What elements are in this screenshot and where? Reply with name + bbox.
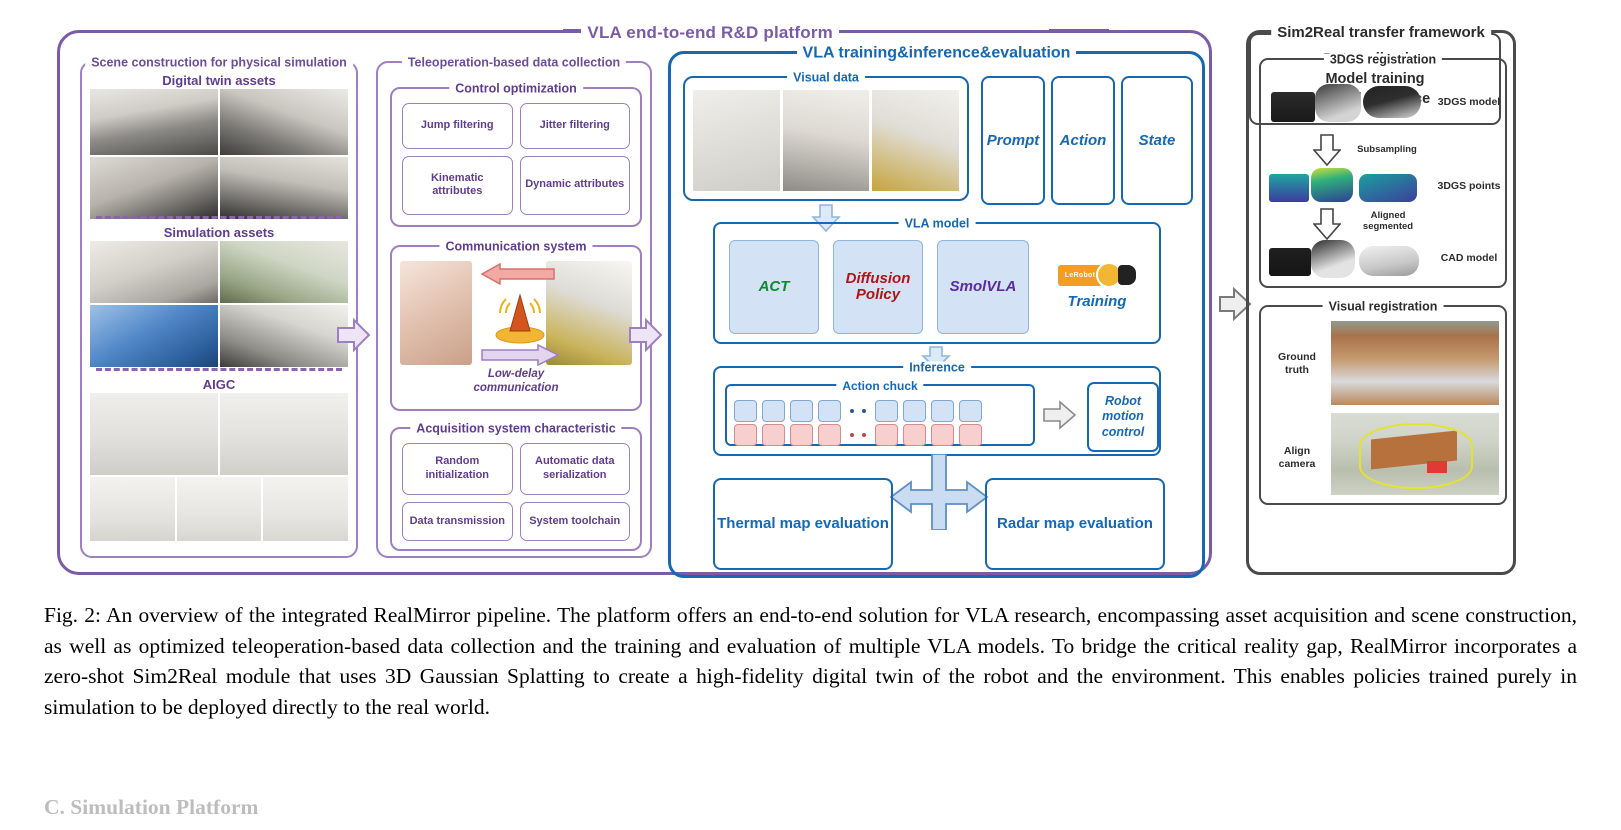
align-camera-image	[1331, 413, 1499, 495]
chuck-chip[interactable]	[931, 424, 954, 446]
chuck-chip[interactable]	[903, 400, 926, 422]
gs-model-image	[1267, 76, 1425, 132]
training-label: Training	[1068, 293, 1127, 310]
subsampling-arrow-icon	[1313, 134, 1341, 166]
ground-truth-label: Ground truth	[1269, 351, 1325, 376]
next-section-heading: C. Simulation Platform	[44, 795, 1577, 825]
flow-arrow-chuck-to-robot	[1043, 400, 1077, 430]
chuck-chip[interactable]	[790, 400, 813, 422]
digital-twin-assets-label: Digital twin assets	[90, 73, 348, 88]
gs-points-label: 3DGS points	[1433, 180, 1505, 193]
model-card-act[interactable]: ACT	[729, 240, 819, 334]
scene-construction-group: Scene construction for physical simulati…	[80, 61, 358, 558]
vla-training-group: VLA training&inference&evaluation Visual…	[668, 51, 1205, 578]
cell-random-initialization[interactable]: Random initialization	[402, 443, 513, 495]
lerobot-training-badge: LeRobot Training	[1045, 244, 1149, 328]
chuck-chip[interactable]	[734, 400, 757, 422]
io-box-state[interactable]: State	[1121, 76, 1193, 205]
aligned-segmented-label: Aligned segmented	[1345, 210, 1431, 233]
vla-platform-panel: VLA end-to-end R&D platform Scene constr…	[57, 30, 1212, 575]
cell-data-transmission[interactable]: Data transmission	[402, 502, 513, 541]
cell-system-toolchain[interactable]: System toolchain	[520, 502, 631, 541]
simulation-assets-label: Simulation assets	[90, 225, 348, 240]
ground-truth-image	[1331, 321, 1499, 405]
flow-arrow-teleop-to-vla	[626, 315, 666, 355]
gs-registration-title: 3DGS registration	[1324, 54, 1442, 67]
control-optimization-group: Control optimization Jump filtering Jitt…	[390, 87, 642, 227]
cad-model-image	[1267, 238, 1425, 284]
flow-arrow-scene-to-teleop	[334, 315, 374, 355]
io-box-prompt[interactable]: Prompt	[981, 76, 1045, 205]
scene-construction-title: Scene construction for physical simulati…	[85, 57, 353, 70]
chuck-chip[interactable]	[931, 400, 954, 422]
acquisition-system-title: Acquisition system characteristic	[410, 423, 621, 436]
scene-divider-1	[96, 216, 342, 219]
control-optimization-title: Control optimization	[449, 83, 583, 96]
platform-title: VLA end-to-end R&D platform	[581, 24, 839, 41]
gs-model-label: 3DGS model	[1433, 96, 1505, 109]
cell-automatic-data-serialization[interactable]: Automatic data serialization	[520, 443, 631, 495]
cell-dynamic-attributes[interactable]: Dynamic attributes	[520, 156, 631, 215]
chuck-chip[interactable]	[959, 400, 982, 422]
acquisition-system-group: Acquisition system characteristic Random…	[390, 427, 642, 551]
cad-model-label: CAD model	[1433, 252, 1505, 265]
robot-motion-control-box[interactable]: Robot motion control	[1087, 382, 1159, 452]
sim2real-panel: Sim2Real transfer framework 3DGS registr…	[1246, 30, 1516, 575]
teleoperation-title: Teleoperation-based data collection	[402, 57, 626, 70]
chuck-chip[interactable]	[875, 424, 898, 446]
vla-model-group: VLA model ACT Diffusion Policy SmolVLA L…	[713, 222, 1161, 344]
inference-title: Inference	[903, 362, 971, 375]
subsampling-label: Subsampling	[1347, 144, 1427, 155]
chuck-chip[interactable]	[818, 424, 841, 446]
visual-registration-title: Visual registration	[1323, 301, 1444, 314]
io-box-action[interactable]: Action	[1051, 76, 1115, 205]
chuck-chip[interactable]	[734, 424, 757, 446]
visual-data-title: Visual data	[787, 72, 865, 85]
chuck-chip[interactable]	[762, 400, 785, 422]
cell-kinematic-attributes[interactable]: Kinematic attributes	[402, 156, 513, 215]
vla-model-title: VLA model	[899, 218, 976, 231]
uplink-arrow-icon	[480, 263, 556, 285]
cell-jump-filtering[interactable]: Jump filtering	[402, 103, 513, 149]
operator-image	[400, 261, 472, 365]
aigc-images	[90, 393, 348, 541]
gs-registration-group: 3DGS registration 3DGS model Subsampling…	[1259, 58, 1507, 288]
teleoperation-group: Teleoperation-based data collection Cont…	[376, 61, 652, 558]
model-card-smolvla[interactable]: SmolVLA	[937, 240, 1029, 334]
chuck-ellipsis	[846, 433, 870, 437]
title-rule-right	[1049, 29, 1109, 32]
chuck-chip[interactable]	[762, 424, 785, 446]
simulation-assets-images	[90, 241, 348, 367]
model-card-diffusion-policy[interactable]: Diffusion Policy	[833, 240, 923, 334]
downlink-arrow-icon	[480, 343, 560, 367]
chuck-chip[interactable]	[903, 424, 926, 446]
visual-data-group: Visual data	[683, 76, 969, 201]
inference-group: Inference Action chuck	[713, 366, 1161, 456]
visual-registration-group: Visual registration Ground truth Align c…	[1259, 305, 1507, 505]
aligned-segmented-arrow-icon	[1313, 208, 1341, 240]
radar-map-evaluation-label: Radar map evaluation	[997, 514, 1153, 534]
digital-twin-images	[90, 89, 348, 219]
communication-system-title: Communication system	[439, 241, 592, 254]
radar-map-evaluation-box[interactable]: Radar map evaluation	[985, 478, 1165, 570]
align-camera-label: Align camera	[1269, 445, 1325, 470]
thermal-map-evaluation-label: Thermal map evaluation	[717, 514, 889, 534]
action-chuck-group: Action chuck	[725, 384, 1035, 446]
chuck-ellipsis	[846, 409, 870, 413]
radio-tower-icon	[492, 285, 548, 345]
lerobot-panda-icon	[1118, 265, 1136, 285]
thermal-map-evaluation-box[interactable]: Thermal map evaluation	[713, 478, 893, 570]
low-delay-caption-line1: Low-delay	[392, 367, 640, 381]
gs-points-image	[1267, 168, 1425, 206]
action-chuck-title: Action chuck	[836, 380, 923, 392]
cell-jitter-filtering[interactable]: Jitter filtering	[520, 103, 631, 149]
aigc-label: AIGC	[90, 377, 348, 392]
vla-training-title: VLA training&inference&evaluation	[797, 46, 1077, 62]
figure-caption: Fig. 2: An overview of the integrated Re…	[44, 600, 1577, 722]
visual-data-images	[693, 90, 959, 191]
chuck-chip[interactable]	[875, 400, 898, 422]
action-chuck-row-blue	[734, 400, 1026, 422]
low-delay-caption-line2: communication	[392, 381, 640, 395]
sim2real-title: Sim2Real transfer framework	[1271, 25, 1491, 40]
communication-system-group: Communication system Low-dela	[390, 245, 642, 411]
action-chuck-row-pink	[734, 424, 1026, 446]
chuck-chip[interactable]	[790, 424, 813, 446]
chuck-chip[interactable]	[959, 424, 982, 446]
chuck-chip[interactable]	[818, 400, 841, 422]
scene-divider-2	[96, 368, 342, 371]
